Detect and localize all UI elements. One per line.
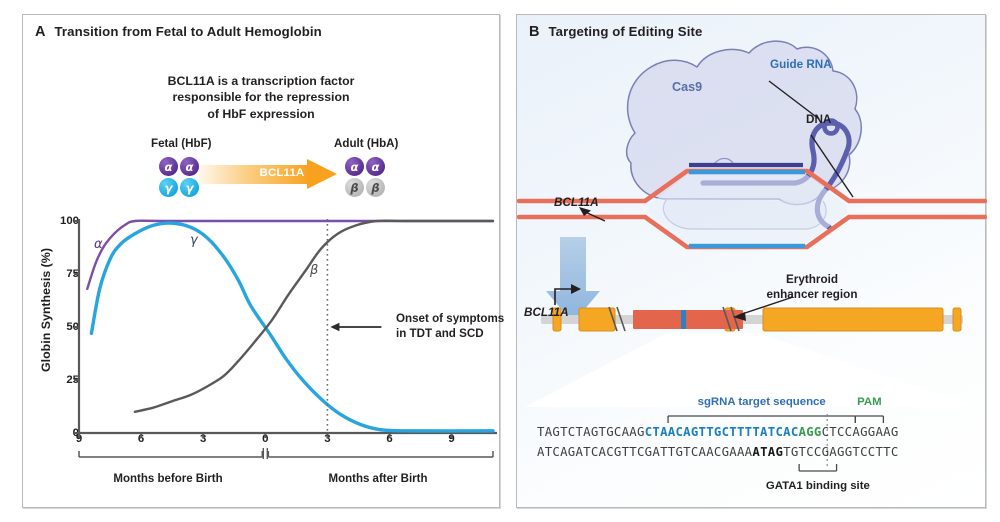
seq-sgrna-target: CTAACAGTTGCTTTTATCAC: [645, 425, 799, 439]
seq-gata1-site: ATAG: [752, 445, 783, 459]
cas9-label: Cas9: [672, 80, 702, 94]
curve-label-beta: β: [310, 263, 318, 278]
curve-label-gamma: γ: [190, 233, 198, 248]
bcl11a-gene-label: BCL11A: [524, 306, 569, 319]
fetal-gamma-subunit-1: γ: [159, 178, 178, 197]
seq-pam: AGG: [799, 425, 822, 439]
fetal-hemoglobin-label: Fetal (HbF): [151, 137, 212, 150]
panel-a-title: Transition from Fetal to Adult Hemoglobi…: [54, 24, 321, 39]
adult-alpha-subunit-2: α: [366, 157, 385, 176]
adult-hemoglobin-label: Adult (HbA): [334, 137, 398, 150]
adult-beta-subunit-2: β: [366, 178, 385, 197]
chart-plot-area: [23, 211, 501, 503]
axis-bracket-label-before-birth: Months before Birth: [113, 473, 222, 485]
pam-label: PAM: [857, 396, 881, 408]
fetal-alpha-subunit-2: α: [180, 157, 199, 176]
erythroid-enhancer-label: Erythroid enhancer region: [760, 272, 864, 302]
seq-top-prefix: TAGTCTAGTGCAAG: [537, 425, 645, 439]
adult-beta-subunit-1: β: [345, 178, 364, 197]
panel-a: A Transition from Fetal to Adult Hemoglo…: [22, 14, 500, 508]
panel-a-letter: A: [35, 24, 45, 40]
curve-label-alpha: α: [94, 237, 103, 252]
axis-bracket-label-after-birth: Months after Birth: [328, 473, 427, 485]
dna-label: DNA: [806, 113, 831, 126]
adult-alpha-subunit-1: α: [345, 157, 364, 176]
gata1-binding-site-label: GATA1 binding site: [766, 480, 870, 492]
onset-annotation-text: Onset of symptoms in TDT and SCD: [396, 312, 516, 342]
sgrna-target-label: sgRNA target sequence: [698, 396, 826, 408]
seq-top-suffix: CTCCAGGAAG: [822, 425, 899, 439]
seq-bottom-suffix: TGTCCGAGGTCCTTC: [783, 445, 898, 459]
seq-bottom-prefix: ATCAGATCACGTTCGATTGTCAACGAAA: [537, 445, 752, 459]
dna-sequence-top-strand: TAGTCTAGTGCAAGCTAACAGTTGCTTTTATCACAGGCTC…: [537, 425, 977, 439]
bcl11a-caption: BCL11A is a transcription factor respons…: [23, 73, 499, 122]
dna-sequence-block: sgRNA target sequence PAM GATA1 binding …: [516, 396, 986, 500]
bcl11a-transition-arrow: BCL11A: [199, 159, 339, 189]
fetal-alpha-subunit-1: α: [159, 157, 178, 176]
panel-a-header: A Transition from Fetal to Adult Hemoglo…: [35, 24, 322, 40]
bcl11a-dna-label: BCL11A: [554, 196, 599, 209]
hemoglobin-schematic: Fetal (HbF) Adult (HbA) α α γ γ BCL11A α…: [23, 137, 501, 209]
figure-root: A Transition from Fetal to Adult Hemoglo…: [0, 0, 1000, 522]
globin-synthesis-chart: Globin Synthesis (%) 0255075100 9630369 …: [23, 211, 501, 503]
arrow-label: BCL11A: [237, 167, 327, 179]
fetal-gamma-subunit-2: γ: [180, 178, 199, 197]
dna-sequence-bottom-strand: ATCAGATCACGTTCGATTGTCAACGAAAATAGTGTCCGAG…: [537, 445, 977, 459]
guide-rna-label: Guide RNA: [770, 58, 832, 71]
